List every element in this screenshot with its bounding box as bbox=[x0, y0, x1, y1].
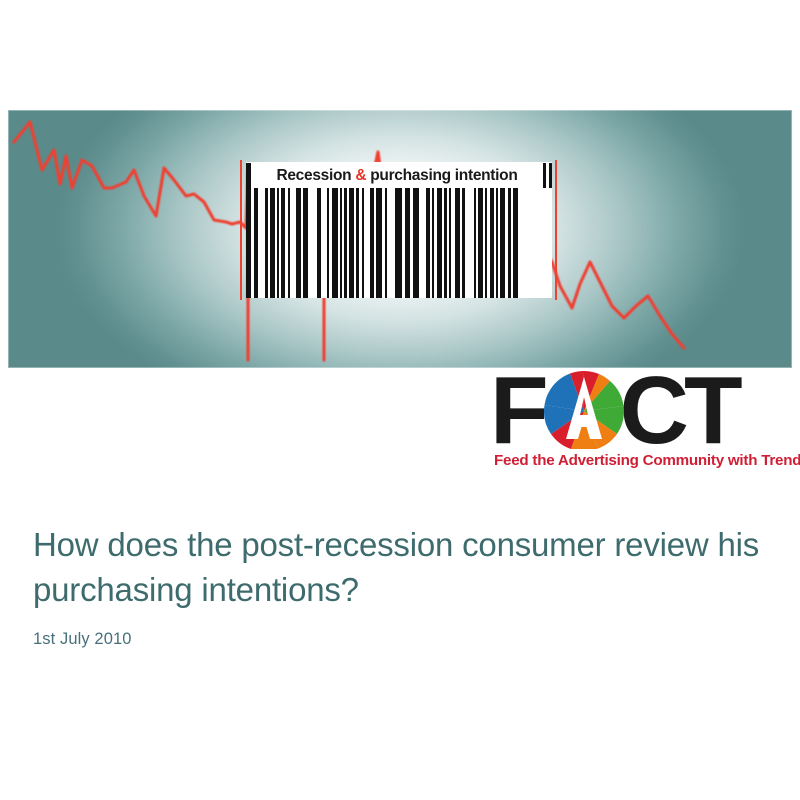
barcode-label-text: Recession & purchasing intention bbox=[251, 167, 543, 185]
barcode-right-rule bbox=[555, 160, 557, 300]
barcode-bars bbox=[246, 188, 552, 298]
barcode-label-ampersand: & bbox=[355, 167, 366, 184]
logo-letter-a-pie-icon bbox=[542, 370, 626, 450]
logo-letters-ct: CT bbox=[620, 370, 738, 453]
barcode-graphic: Recession & purchasing intention bbox=[240, 160, 557, 300]
logo-letter-f: F bbox=[490, 370, 544, 453]
fact-logo-wordmark: F bbox=[490, 370, 792, 450]
barcode-label-endbar-right bbox=[549, 163, 552, 189]
barcode-label-suffix: purchasing intention bbox=[366, 167, 517, 184]
barcode-label-prefix: Recession bbox=[276, 167, 355, 184]
barcode-left-rule bbox=[240, 160, 242, 300]
fact-logo: F bbox=[490, 370, 792, 476]
slide-date: 1st July 2010 bbox=[33, 630, 132, 649]
slide-canvas: Recession & purchasing intention bbox=[0, 0, 800, 800]
barcode-label-endbar-right-inner bbox=[543, 163, 546, 189]
slide-title: How does the post-recession consumer rev… bbox=[33, 523, 763, 613]
barcode-label-bar: Recession & purchasing intention bbox=[246, 162, 552, 190]
fact-logo-tagline: Feed the Advertising Community with Tren… bbox=[494, 452, 800, 469]
